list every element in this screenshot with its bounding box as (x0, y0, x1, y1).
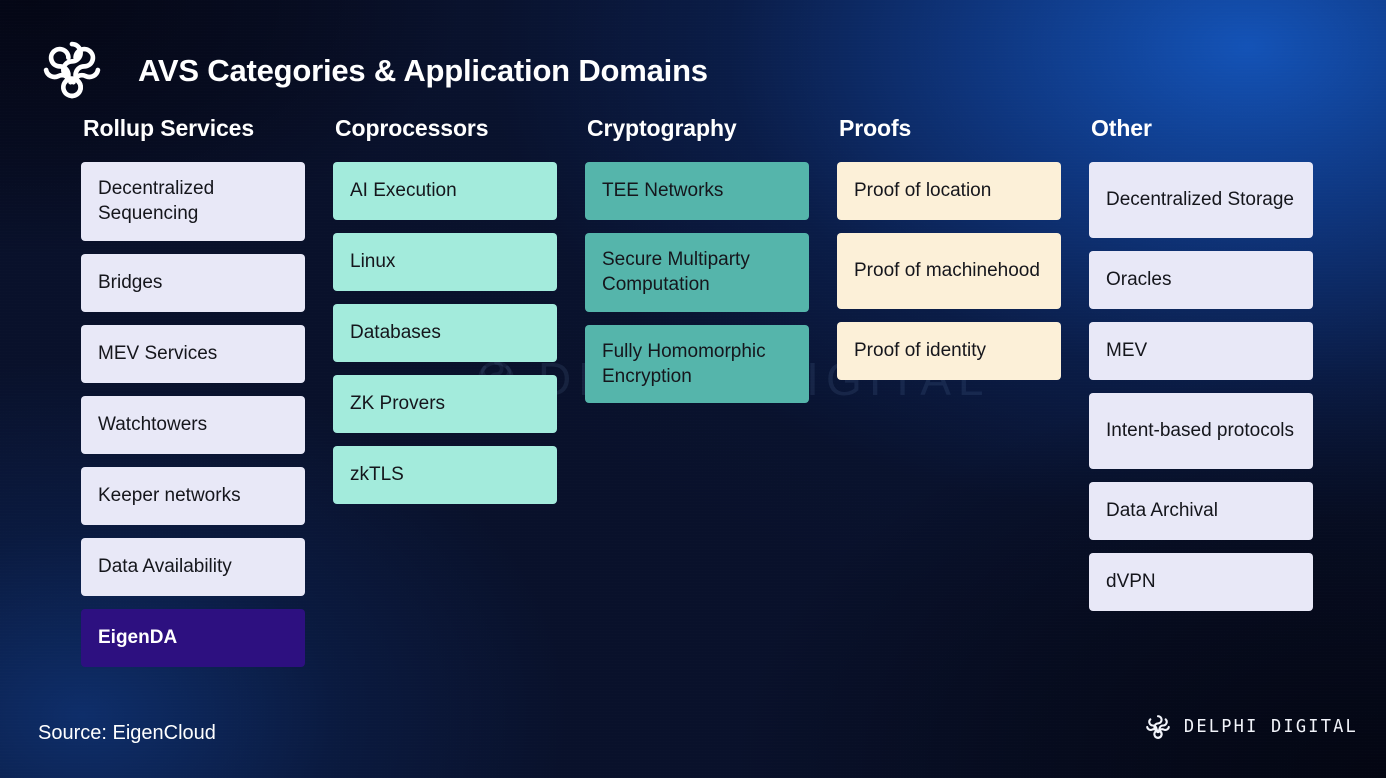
category-card-label: Decentralized Storage (1106, 187, 1294, 212)
column-title: Cryptography (587, 117, 809, 140)
category-card[interactable]: Secure Multiparty Computation (585, 233, 809, 312)
category-card-label: Intent-based protocols (1106, 418, 1294, 443)
category-card[interactable]: dVPN (1089, 553, 1313, 611)
category-card-label: Secure Multiparty Computation (602, 247, 792, 298)
column-title: Other (1091, 117, 1313, 140)
category-card-label: Databases (350, 320, 441, 345)
category-card[interactable]: Fully Homomorphic Encryption (585, 325, 809, 404)
category-card-label: AI Execution (350, 178, 457, 203)
category-card[interactable]: MEV Services (81, 325, 305, 383)
category-card-label: Proof of location (854, 178, 991, 203)
category-card[interactable]: Databases (333, 304, 557, 362)
column-title: Coprocessors (335, 117, 557, 140)
category-card-label: Data Archival (1106, 498, 1218, 523)
category-card[interactable]: Keeper networks (81, 467, 305, 525)
category-card[interactable]: EigenDA (81, 609, 305, 667)
category-column: ProofsProof of locationProof of machineh… (837, 117, 1061, 680)
category-card[interactable]: Proof of identity (837, 322, 1061, 380)
category-card-label: zkTLS (350, 462, 404, 487)
category-card-label: Fully Homomorphic Encryption (602, 339, 792, 390)
category-card[interactable]: Decentralized Storage (1089, 162, 1313, 238)
category-column: Rollup ServicesDecentralized SequencingB… (81, 117, 305, 680)
category-card-label: ZK Provers (350, 391, 445, 416)
column-title: Proofs (839, 117, 1061, 140)
category-card-label: Watchtowers (98, 412, 207, 437)
category-card-label: Bridges (98, 270, 162, 295)
category-card-label: Linux (350, 249, 395, 274)
column-title: Rollup Services (83, 117, 305, 140)
category-card-label: MEV (1106, 338, 1147, 363)
category-card-label: dVPN (1106, 569, 1156, 594)
category-card-label: Decentralized Sequencing (98, 176, 288, 227)
category-column: CryptographyTEE NetworksSecure Multipart… (585, 117, 809, 680)
category-card[interactable]: Intent-based protocols (1089, 393, 1313, 469)
category-card-label: Proof of identity (854, 338, 986, 363)
category-card-label: Keeper networks (98, 483, 241, 508)
category-columns: Rollup ServicesDecentralized SequencingB… (81, 117, 1313, 680)
category-card[interactable]: Oracles (1089, 251, 1313, 309)
category-card-label: Data Availability (98, 554, 232, 579)
category-card[interactable]: Bridges (81, 254, 305, 312)
category-card-label: Proof of machinehood (854, 258, 1040, 283)
category-card[interactable]: Decentralized Sequencing (81, 162, 305, 241)
brand-logo: DELPHI DIGITAL (1143, 712, 1358, 742)
delphi-ring-icon (36, 30, 108, 110)
category-card-label: EigenDA (98, 625, 177, 650)
category-card[interactable]: Data Archival (1089, 482, 1313, 540)
category-card-label: MEV Services (98, 341, 217, 366)
category-card[interactable]: TEE Networks (585, 162, 809, 220)
category-card-label: Oracles (1106, 267, 1171, 292)
page-title: AVS Categories & Application Domains (138, 55, 708, 86)
category-column: CoprocessorsAI ExecutionLinuxDatabasesZK… (333, 117, 557, 680)
category-card-label: TEE Networks (602, 178, 723, 203)
category-card[interactable]: Linux (333, 233, 557, 291)
category-card[interactable]: ZK Provers (333, 375, 557, 433)
category-card[interactable]: Watchtowers (81, 396, 305, 454)
delphi-ring-footer-icon (1143, 712, 1173, 742)
category-column: OtherDecentralized StorageOraclesMEVInte… (1089, 117, 1313, 680)
infographic-canvas: DELPHI DIGITAL AVS Categories & Applicat… (0, 0, 1386, 778)
category-card[interactable]: Proof of machinehood (837, 233, 1061, 309)
category-card[interactable]: zkTLS (333, 446, 557, 504)
source-label: Source: EigenCloud (38, 722, 216, 745)
header: AVS Categories & Application Domains (36, 30, 708, 110)
brand-name: DELPHI DIGITAL (1184, 717, 1358, 738)
category-card[interactable]: MEV (1089, 322, 1313, 380)
category-card[interactable]: AI Execution (333, 162, 557, 220)
category-card[interactable]: Proof of location (837, 162, 1061, 220)
category-card[interactable]: Data Availability (81, 538, 305, 596)
